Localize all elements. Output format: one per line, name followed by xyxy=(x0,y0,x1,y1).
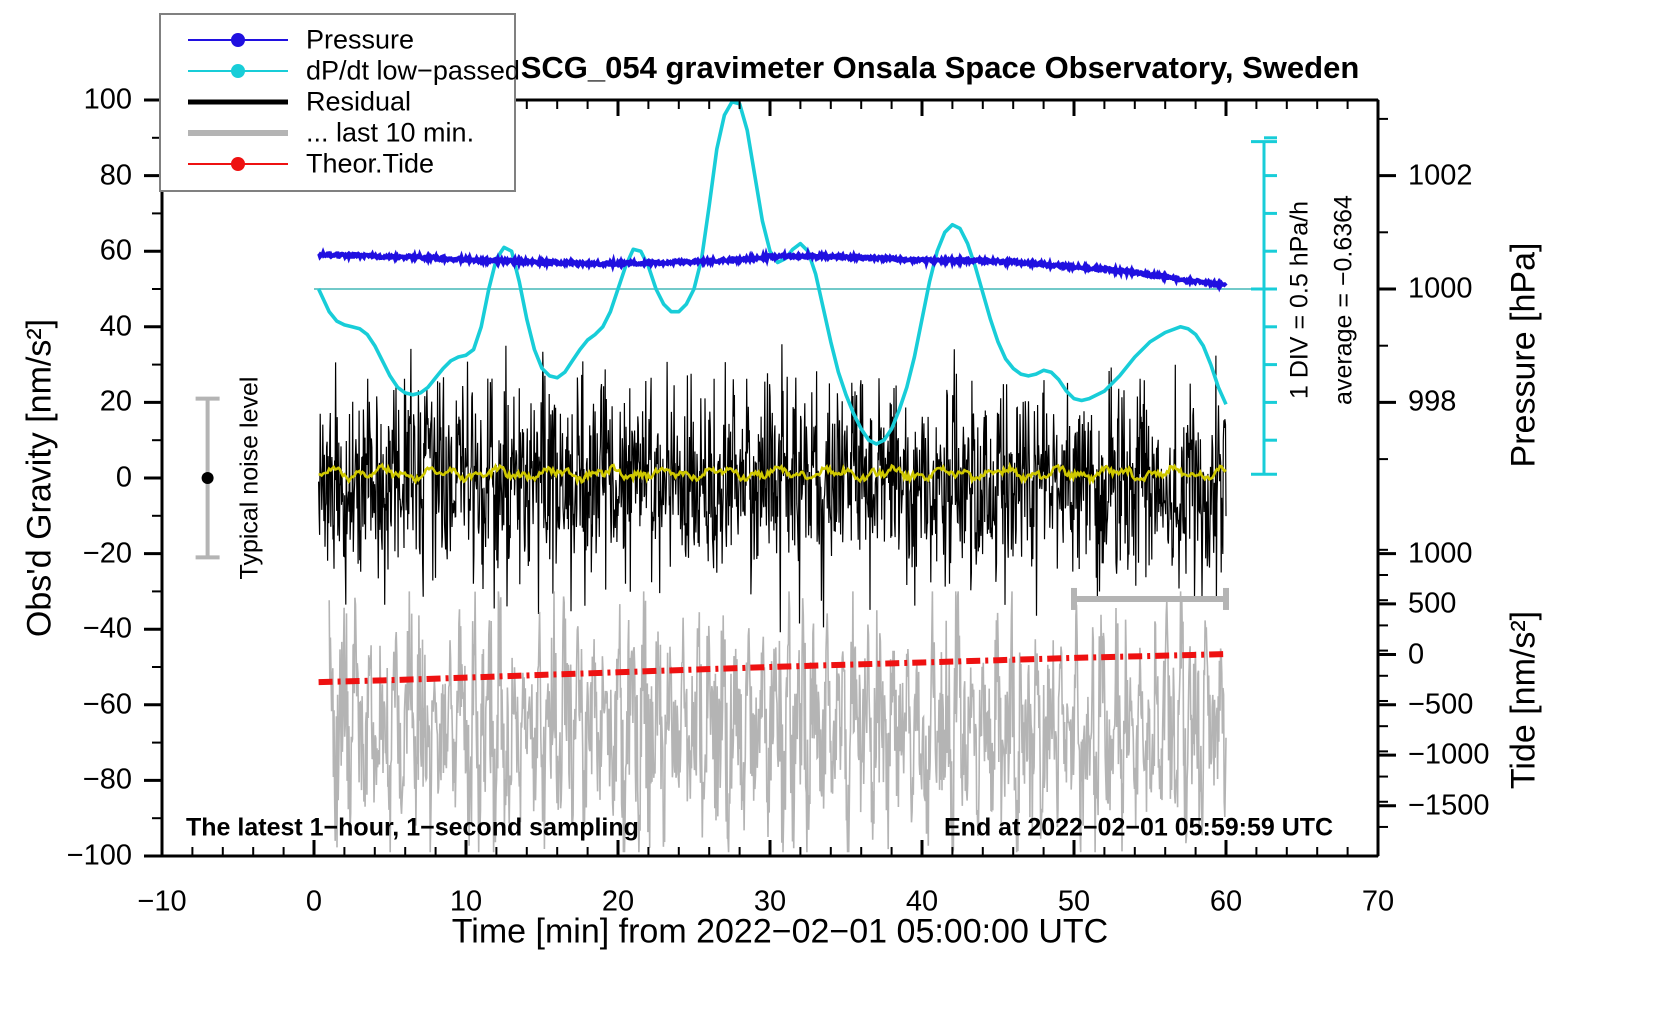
chart-page: −10010203040506070−100−80−60−40−20020406… xyxy=(0,0,1660,1020)
gravimeter-timeseries-chart xyxy=(0,0,1660,1020)
noise-center-dot xyxy=(202,472,214,484)
legend[interactable] xyxy=(160,14,515,191)
legend-marker-4 xyxy=(231,157,245,171)
legend-marker-0 xyxy=(231,33,245,47)
legend-marker-1 xyxy=(231,64,245,78)
